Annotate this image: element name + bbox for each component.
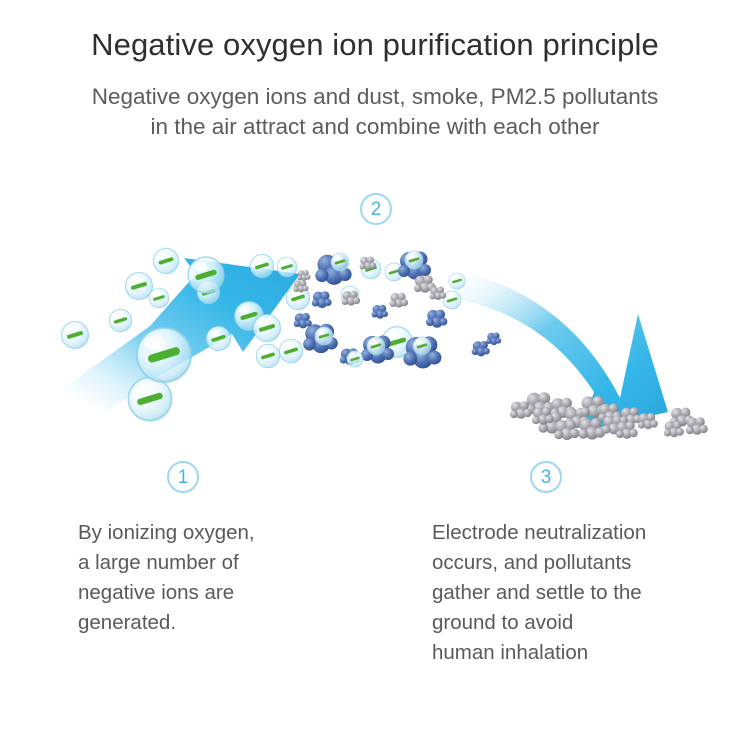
page-title: Negative oxygen ion purification princip… bbox=[0, 27, 750, 63]
step-1-caption: By ionizing oxygen, a large number of ne… bbox=[78, 518, 255, 638]
infographic-canvas: Negative oxygen ion purification princip… bbox=[0, 0, 750, 750]
subtitle-line-2: in the air attract and combine with each… bbox=[0, 112, 750, 142]
subtitle-line-1: Negative oxygen ions and dust, smoke, PM… bbox=[0, 82, 750, 112]
caption-line: negative ions are bbox=[78, 578, 255, 608]
caption-line: a large number of bbox=[78, 548, 255, 578]
caption-line: By ionizing oxygen, bbox=[78, 518, 255, 548]
caption-line: Electrode neutralization bbox=[432, 518, 646, 548]
caption-line: occurs, and pollutants bbox=[432, 548, 646, 578]
step-badge-2: 2 bbox=[360, 193, 392, 225]
caption-line: gather and settle to the bbox=[432, 578, 646, 608]
page-subtitle: Negative oxygen ions and dust, smoke, PM… bbox=[0, 82, 750, 142]
step-badge-1: 1 bbox=[167, 461, 199, 493]
caption-line: ground to avoid bbox=[432, 608, 646, 638]
step-badge-3: 3 bbox=[530, 461, 562, 493]
caption-line: human inhalation bbox=[432, 638, 646, 668]
step-3-caption: Electrode neutralization occurs, and pol… bbox=[432, 518, 646, 668]
caption-line: generated. bbox=[78, 608, 255, 638]
